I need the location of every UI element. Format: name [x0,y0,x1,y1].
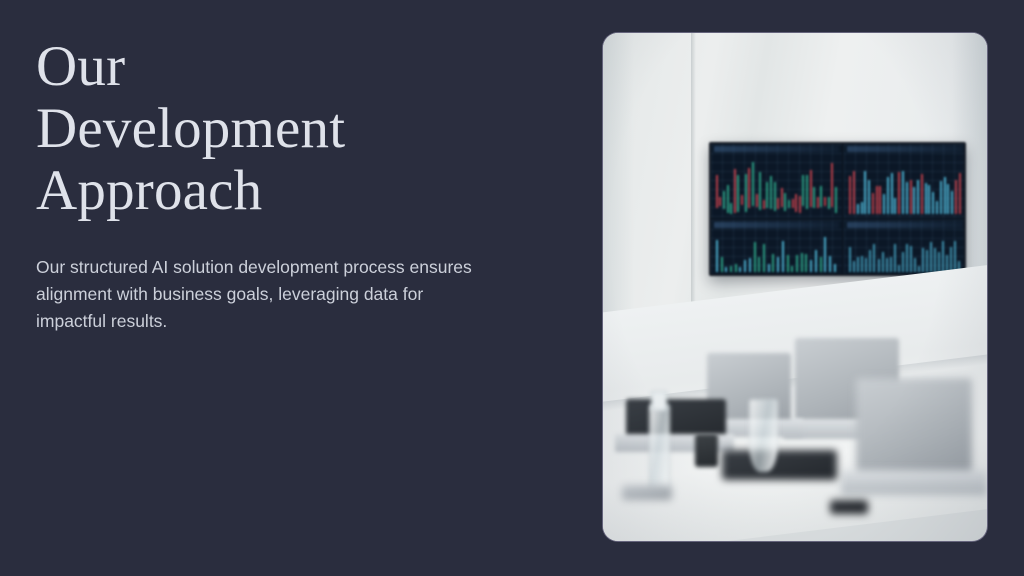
chart-bar [815,250,817,272]
chart-bar [922,248,924,272]
laptop [856,378,971,480]
drinking-glass [749,399,778,472]
chart-bar [828,197,830,209]
chart-bar [886,258,888,273]
chart-bar [805,254,807,272]
chart-bar [716,175,718,208]
chart-panel-header [847,222,963,228]
chart-bar [894,198,896,213]
chart-bar [926,250,928,272]
chart-bar [788,200,790,209]
chart-bar [898,172,900,213]
chart-bar [777,198,779,209]
slide-text-column: Our Development Approach Our structured … [36,36,536,335]
chart-bar [799,196,801,213]
chart-bar [810,170,812,207]
wall-panel-left [603,33,634,348]
chart-bar [951,191,953,213]
chart-bar [777,257,779,273]
chart-bar [802,175,804,206]
chart-bar [739,267,741,273]
bar-series [716,232,839,272]
chart-bar [947,184,949,213]
presentation-slide: Our Development Approach Our structured … [0,0,1024,576]
chart-bar [872,193,874,213]
chart-bar [914,258,916,273]
chart-bar [930,242,932,272]
chart-bar [831,163,833,207]
chart-bar [824,197,826,206]
chart-bar [763,200,765,209]
chart-bar [906,182,908,213]
chart-bar [955,180,957,214]
chart-bar [813,187,815,208]
chart-bar [891,173,893,213]
chart-bar [766,182,768,207]
chart-bar [806,175,808,209]
chart-bar [938,252,940,272]
chart-bar [801,253,803,272]
chart-bar [898,265,900,273]
chart-bar [817,197,819,208]
chart-bar [792,199,794,208]
chart-bar [942,241,944,273]
monitor-chart-grid [711,144,964,274]
chart-bar [725,267,727,273]
chart-bar [857,257,859,273]
wall-monitor [709,142,966,276]
photo-scene [603,33,987,541]
chart-bar [820,186,822,207]
water-bottle [649,404,670,492]
chart-bar [758,257,760,273]
chart-bar [756,194,758,207]
candlestick-chart-panel [711,144,843,218]
chart-bar [737,175,739,213]
volume-bar-series [849,160,962,213]
smartphone [830,500,868,513]
chart-bar [727,185,729,213]
chart-bar [719,197,721,206]
chart-bar [744,260,746,272]
chart-bar [748,168,750,208]
chart-bar [925,183,927,213]
chart-bar [829,256,831,273]
chart-bar [824,237,826,272]
chart-bar [795,194,797,213]
chart-bar [759,172,761,210]
chart-bar [954,241,956,273]
chart-bar [865,258,867,273]
candlestick-series [716,160,839,213]
chart-bar [910,180,912,214]
chart-bar [730,266,732,273]
chart-bar [913,187,915,214]
chart-bar [864,171,866,213]
chart-bar [730,203,732,213]
chart-bar [820,257,822,273]
chart-bar [723,191,725,209]
chart-bar [774,182,776,211]
notebook [622,485,672,500]
secondary-chart-panel [711,220,843,276]
chart-panel-header [714,222,840,228]
chart-bar [784,193,786,211]
chart-bar [741,195,743,205]
chart-bar [768,264,770,272]
chart-bar [906,244,908,272]
chart-bar [959,173,961,214]
chart-bar [868,180,870,214]
chart-bar [835,187,837,213]
chart-bar [752,162,754,205]
chart-bar [878,259,880,272]
chart-bar [770,176,772,210]
chart-bar [857,204,859,214]
chart-bar [894,244,896,273]
laptop [722,450,837,480]
chart-bar [869,250,871,273]
chart-bar [772,254,774,272]
page-title: Our Development Approach [36,36,536,222]
chart-bar [791,266,793,272]
chart-bar [910,246,912,272]
chart-bar [853,171,855,214]
chart-bar [834,264,836,273]
chart-bar [944,177,946,214]
slide-subtitle: Our structured AI solution development p… [36,222,496,335]
line-chart-panel [844,220,966,276]
chart-bar [873,244,875,273]
chart-bar [890,257,892,273]
chart-bar [749,258,751,272]
chart-panel-header [847,146,963,152]
chart-bar [787,255,789,272]
chart-bar [861,256,863,273]
chart-bar [918,266,920,272]
chart-bar [782,241,784,273]
chart-bar [887,177,889,214]
chart-bar [934,248,936,272]
chart-bar [902,171,904,213]
chart-bar [917,180,919,214]
chart-bar [882,252,884,272]
chart-bar [883,194,885,213]
chart-bar [721,257,723,273]
area-series [849,232,962,272]
team-meeting-photo [603,33,987,541]
chart-bar [932,192,934,213]
chart-bar [902,252,904,272]
chart-bar [716,240,718,272]
chart-bar [796,255,798,273]
chart-bar [876,186,878,214]
chart-bar [936,201,938,214]
chart-bar [734,169,736,214]
chart-bar [849,247,851,272]
volume-chart-panel [844,144,966,218]
chart-bar [735,264,737,272]
bottle-cap [651,391,667,411]
chart-bar [861,202,863,214]
chart-bar [754,242,756,272]
chart-bar [940,181,942,214]
chart-bar [763,244,765,273]
chart-bar [810,260,812,273]
chart-panel-header [714,146,840,152]
chart-bar [781,188,783,206]
chart-bar [853,261,855,272]
chart-bar [928,185,930,214]
chart-bar [849,176,851,214]
chart-bar [921,174,923,214]
laptop-base [841,470,987,495]
chart-bar [879,186,881,214]
coffee-cup [695,434,718,467]
chart-bar [745,174,747,212]
